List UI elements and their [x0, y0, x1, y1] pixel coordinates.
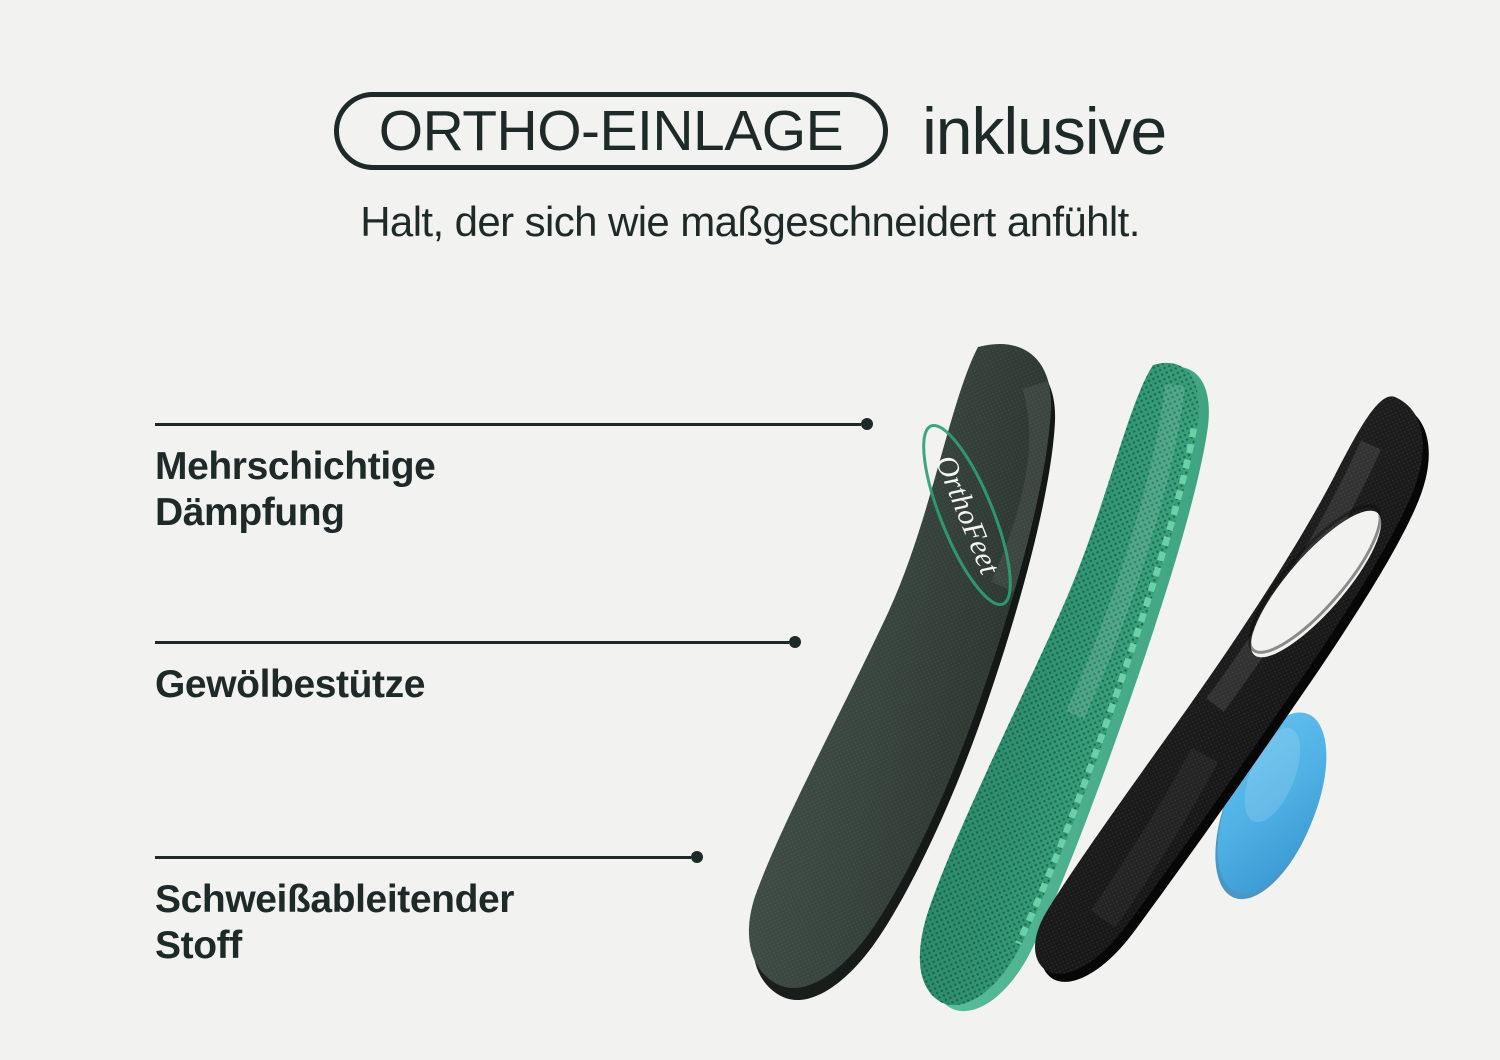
subtitle: Halt, der sich wie maßgeschneidert anfüh… [0, 198, 1500, 246]
insole-illustration: OrthoFeet [735, 325, 1455, 1040]
leader-line-stroke [155, 856, 691, 859]
feature-label-3: Schweißableitender Stoff [155, 877, 514, 969]
leader-dot-icon [691, 851, 703, 863]
header: ORTHO-EINLAGE inklusive Halt, der sich w… [0, 88, 1500, 246]
badge-label: ORTHO-EINLAGE [379, 103, 843, 160]
feature-label-1: Mehrschichtige Dämpfung [155, 444, 435, 536]
headline-row: ORTHO-EINLAGE inklusive [0, 88, 1500, 174]
feature-callout-moisture-fabric: Schweißableitender Stoff [155, 851, 514, 969]
product-image-insole-exploded: OrthoFeet [735, 325, 1455, 1040]
feature-callout-arch-support: Gewölbestütze [155, 636, 425, 708]
feature-callout-cushioning: Mehrschichtige Dämpfung [155, 418, 435, 536]
ortho-einlage-badge: ORTHO-EINLAGE [334, 92, 888, 170]
leader-line-2 [155, 636, 425, 648]
leader-line-3 [155, 851, 514, 863]
leader-line-1 [155, 418, 435, 430]
infographic-canvas: ORTHO-EINLAGE inklusive Halt, der sich w… [0, 0, 1500, 1060]
feature-label-2: Gewölbestütze [155, 662, 425, 708]
headline-tail: inklusive [922, 98, 1166, 164]
leader-line-stroke [155, 641, 789, 644]
